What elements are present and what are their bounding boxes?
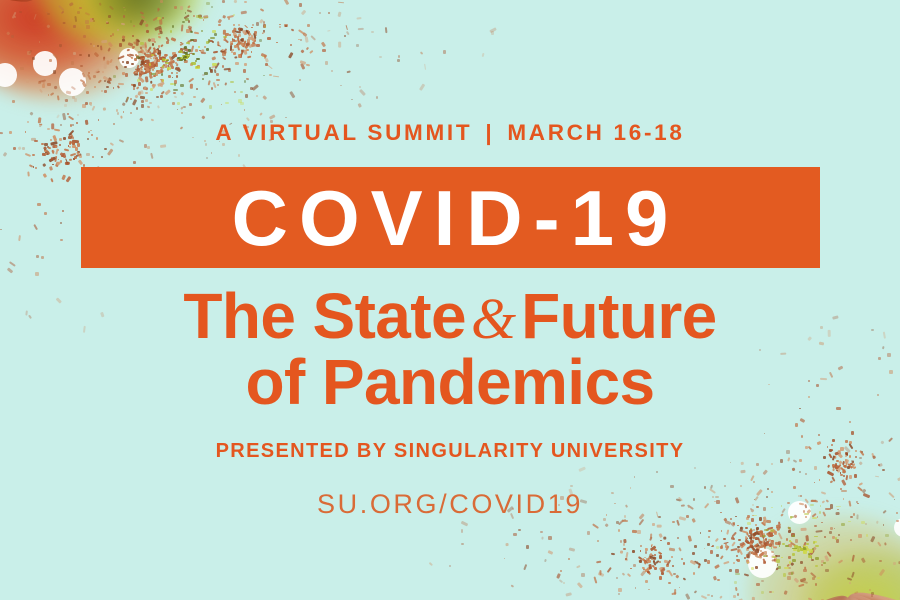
subtitle-line-1: The State&Future bbox=[183, 284, 716, 350]
eyebrow-line: A VIRTUAL SUMMIT | MARCH 16-18 bbox=[215, 120, 684, 146]
event-type-label: A VIRTUAL SUMMIT bbox=[215, 120, 472, 146]
subtitle-text-before-amp: The State bbox=[183, 280, 466, 352]
website-url[interactable]: SU.ORG/COVID19 bbox=[317, 489, 583, 520]
presented-by-label: PRESENTED BY SINGULARITY UNIVERSITY bbox=[216, 440, 685, 463]
subtitle: The State&Future of Pandemics bbox=[183, 284, 716, 416]
subtitle-line-2: of Pandemics bbox=[183, 350, 716, 416]
page-title: COVID-19 bbox=[221, 179, 680, 257]
headline-band: COVID-19 bbox=[81, 167, 820, 268]
subtitle-text-after-amp: Future bbox=[521, 280, 717, 352]
event-dates-label: MARCH 16-18 bbox=[507, 120, 684, 146]
promotional-poster: A VIRTUAL SUMMIT | MARCH 16-18 COVID-19 … bbox=[0, 0, 900, 600]
poster-content: A VIRTUAL SUMMIT | MARCH 16-18 COVID-19 … bbox=[0, 0, 900, 600]
ampersand-glyph: & bbox=[466, 286, 521, 351]
eyebrow-separator: | bbox=[485, 120, 494, 146]
